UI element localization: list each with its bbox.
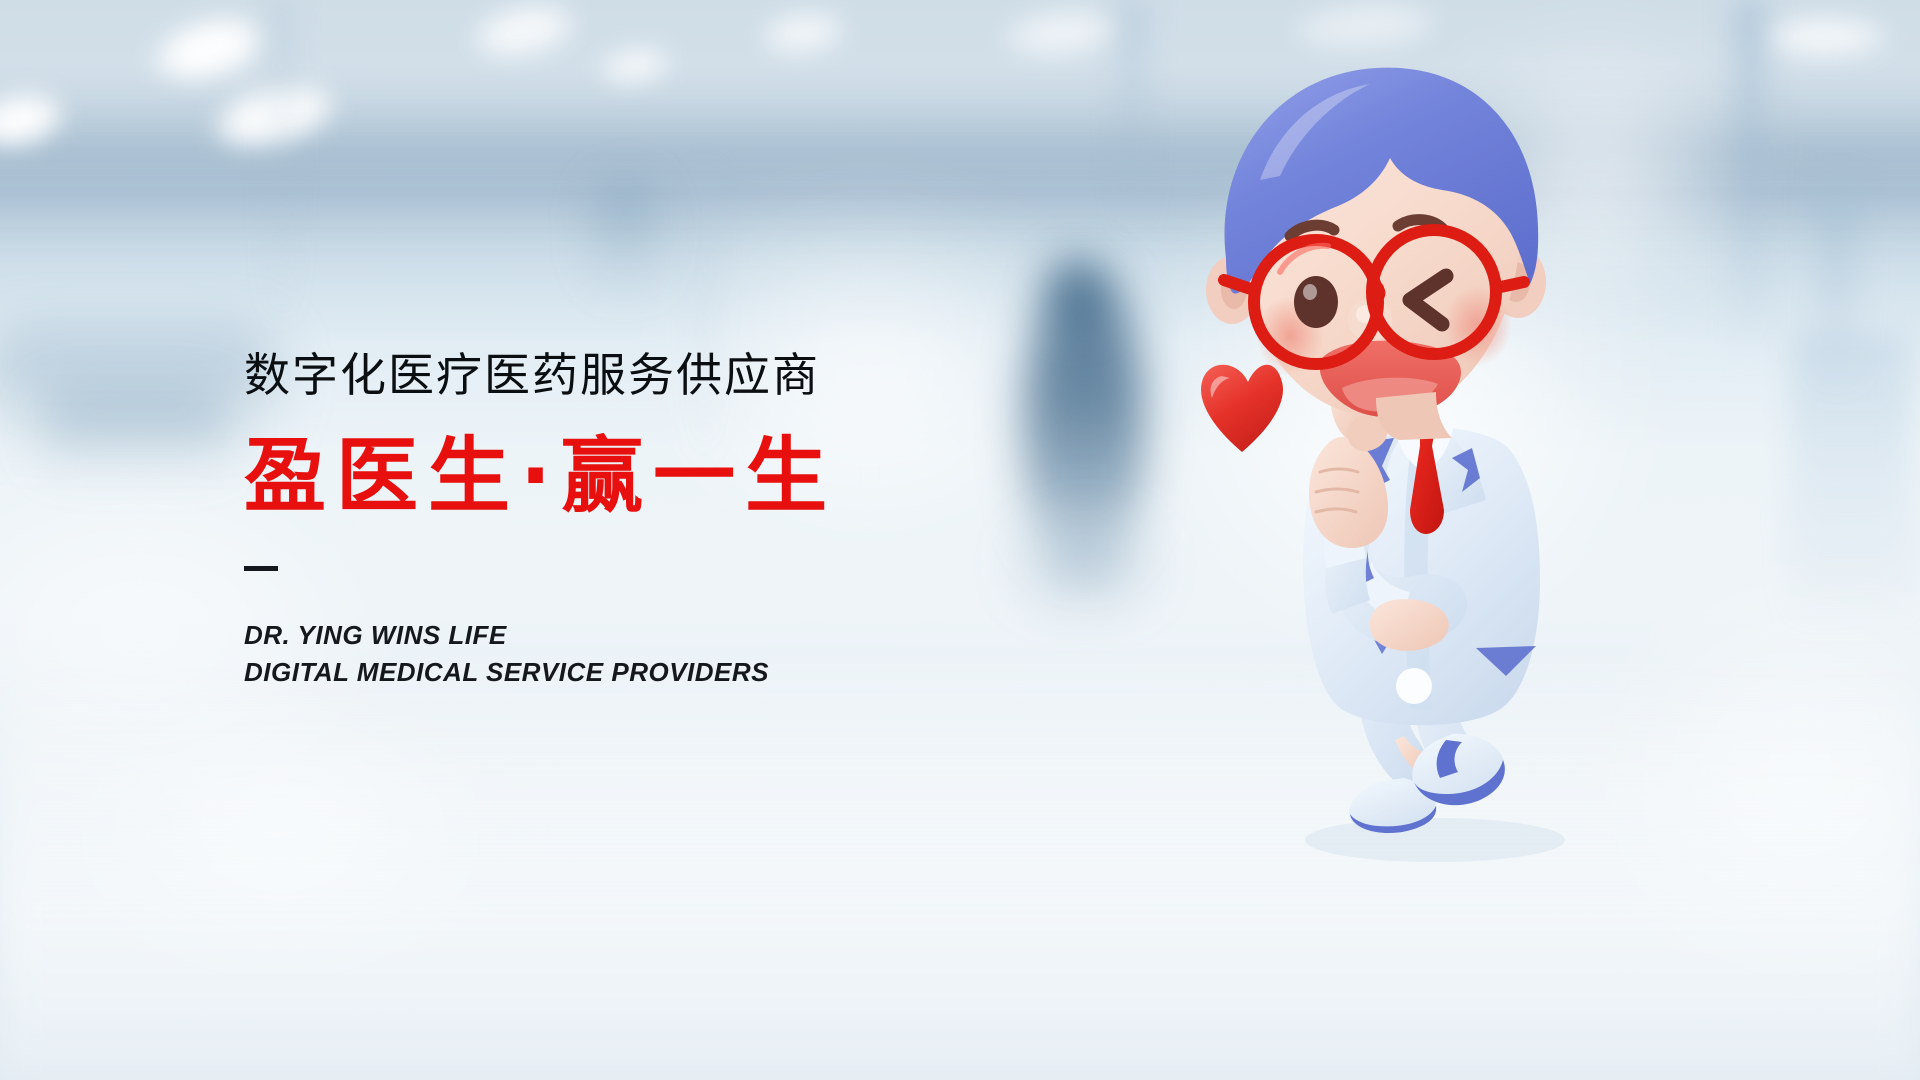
divider-rule xyxy=(244,566,278,571)
hero-headline: 盈医生·赢一生 xyxy=(244,436,1004,518)
corridor-structure-blur xyxy=(272,0,290,330)
english-line-2: DIGITAL MEDICAL SERVICE PROVIDERS xyxy=(244,654,1004,691)
hero-english-subtitle: DR. YING WINS LIFE DIGITAL MEDICAL SERVI… xyxy=(244,617,1004,691)
corridor-structure-blur xyxy=(1815,180,1859,390)
background-person-head xyxy=(1049,260,1105,324)
hero-tagline: 数字化医疗医药服务供应商 xyxy=(244,352,1004,398)
corridor-structure-blur xyxy=(1735,0,1765,360)
corridor-counter-blur xyxy=(40,390,230,480)
ceiling-light-bokeh xyxy=(1760,14,1890,60)
corridor-structure-blur xyxy=(1120,0,1146,240)
light-wash xyxy=(1430,30,1760,330)
background-figure-blur xyxy=(590,180,660,300)
background-person-shadow xyxy=(1010,520,1160,610)
hero-banner: 数字化医疗医药服务供应商 盈医生·赢一生 DR. YING WINS LIFE … xyxy=(0,0,1920,1080)
hero-copy: 数字化医疗医药服务供应商 盈医生·赢一生 DR. YING WINS LIFE … xyxy=(244,352,1004,691)
light-wash xyxy=(70,700,490,960)
english-line-1: DR. YING WINS LIFE xyxy=(244,617,1004,654)
